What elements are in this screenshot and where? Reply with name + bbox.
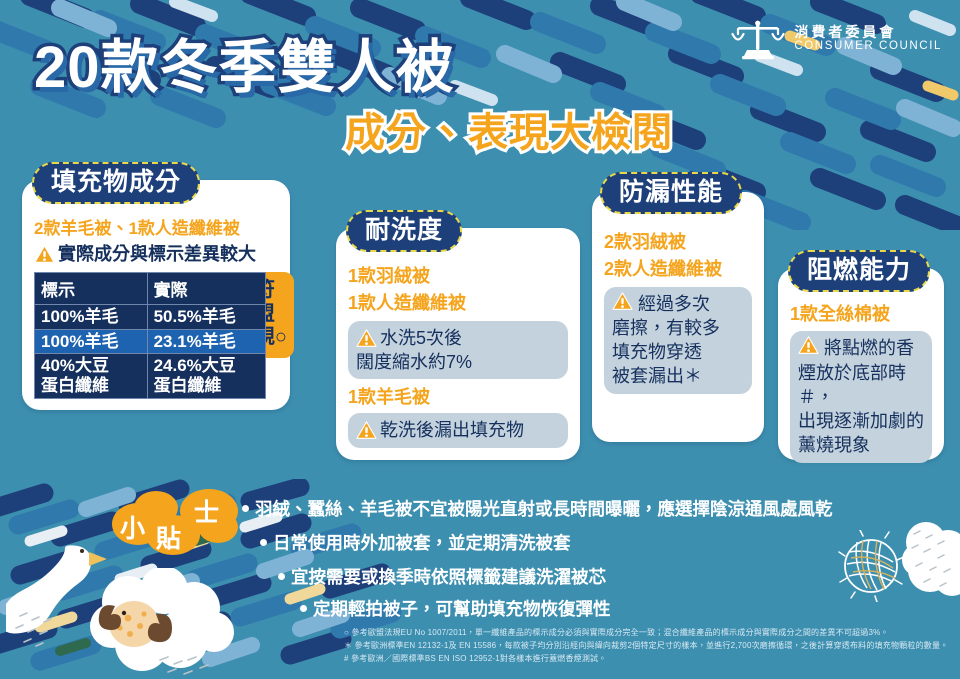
card-wash-durability: 1款羽絨被 1款人造纖維被 水洗5次後 闊度縮水約7% 1款羊毛被 乾洗後漏出填… — [336, 228, 580, 460]
footnote-1: ○ 參考歐盟法規EU No 1007/2011，單一纖維產品的標示成分必須與實際… — [344, 627, 889, 639]
cell-declared: 40%大豆 蛋白纖維 — [35, 354, 148, 398]
card-heading-flame-retardance: 阻燃能力 — [788, 250, 930, 292]
wash-note-shrinkage: 水洗5次後 闊度縮水約7% — [348, 321, 568, 380]
tip-item-4: 定期輕拍被子，可幫助填充物恢復彈性 — [300, 596, 611, 621]
tip-item-1-text: 羽絨、蠶絲、羊毛被不宜被陽光直射或長時間曝曬，應選擇陰涼通風處風乾 — [255, 499, 833, 519]
table-row: 100%羊毛 23.1%羊毛 — [35, 329, 266, 354]
silk-cocoon-illustration — [835, 530, 907, 602]
page-subtitle: 成分、表現大檢閱 — [345, 100, 673, 158]
fill-composition-warning-text: 實際成分與標示差異較大 — [58, 244, 256, 264]
tip-item-3: 宜按需要或換季時依照標籤建議洗濯被芯 — [278, 564, 606, 589]
cell-actual: 50.5%羊毛 — [147, 305, 265, 330]
cell-actual: 24.6%大豆 蛋白纖維 — [147, 354, 265, 398]
card-heading-wash-durability: 耐洗度 — [346, 210, 462, 252]
cell-declared: 100%羊毛 — [35, 305, 148, 330]
flame-note-text: 將點燃的香 煙放於底部時＃， 出現逐漸加劇的 薰燒現象 — [798, 338, 924, 455]
tip-item-2-text: 日常使用時外加被套，並定期清洗被套 — [273, 533, 571, 553]
infographic-canvas: 20款冬季雙人被 成分、表現大檢閱 消費者委員會 CONSUMER COUNCI… — [0, 0, 960, 679]
sheep-illustration — [68, 568, 238, 679]
tip-item-2: 日常使用時外加被套，並定期清洗被套 — [260, 530, 571, 555]
tips-badge-char-3: 士 — [194, 493, 219, 529]
table-row: 100%羊毛 50.5%羊毛 — [35, 305, 266, 330]
warning-icon — [356, 421, 377, 440]
warning-icon — [798, 336, 819, 355]
table-header-declared: 標示 — [35, 273, 148, 305]
leak-item-down-quilt: 2款羽絨被 — [604, 230, 752, 254]
warning-icon — [612, 292, 633, 311]
table-row: 40%大豆 蛋白纖維 24.6%大豆 蛋白纖維 — [35, 354, 266, 398]
bullet-icon — [260, 539, 267, 546]
consumer-council-logo: 消費者委員會 CONSUMER COUNCIL — [730, 18, 942, 60]
warning-icon — [34, 245, 55, 264]
tip-item-4-text: 定期輕拍被子，可幫助填充物恢復彈性 — [313, 599, 611, 619]
tips-badge-char-2: 貼 — [156, 519, 181, 555]
tips-badge-char-1: 小 — [120, 509, 145, 545]
cell-declared: 100%羊毛 — [35, 329, 148, 354]
wash-item-down-quilt: 1款羽絨被 — [348, 264, 568, 288]
cell-actual: 23.1%羊毛 — [147, 329, 265, 354]
fill-composition-warning-row: 實際成分與標示差異較大 — [34, 243, 278, 266]
footnote-2: ＊ 參考歐洲標準EN 12132-1及 EN 15586，每款被子均分別沿經向與… — [344, 640, 948, 652]
warning-icon — [356, 329, 377, 348]
leak-note: 經過多次 磨擦，有較多 填充物穿透 被套漏出＊ — [604, 287, 752, 394]
logo-label-en: CONSUMER COUNCIL — [794, 40, 942, 54]
fill-composition-table: 標示 實際 100%羊毛 50.5%羊毛 100%羊毛 23.1%羊毛 40%大… — [34, 272, 266, 398]
wash-item-synthetic-quilt: 1款人造纖維被 — [348, 291, 568, 315]
wash-item-wool-quilt: 1款羊毛被 — [348, 385, 568, 409]
wash-note-dryclean: 乾洗後漏出填充物 — [348, 413, 568, 447]
flame-item-silk-quilt: 1款全絲棉被 — [790, 302, 932, 326]
page-title: 20款冬季雙人被 — [34, 20, 455, 104]
footnote-3: # 參考歐洲／國際標準BS EN ISO 12952-1對各樣本進行蓋燃香煙測試… — [344, 653, 606, 665]
bullet-icon — [300, 605, 307, 612]
bullet-icon — [242, 505, 249, 512]
wash-note-dryclean-text: 乾洗後漏出填充物 — [380, 420, 524, 440]
card-leak-resistance: 2款羽絨被 2款人造纖維被 經過多次 磨擦，有較多 填充物穿透 被套漏出＊ — [592, 192, 764, 442]
flame-note: 將點燃的香 煙放於底部時＃， 出現逐漸加劇的 薰燒現象 — [790, 331, 932, 462]
leak-item-synthetic-quilt: 2款人造纖維被 — [604, 257, 752, 281]
table-body: 100%羊毛 50.5%羊毛 100%羊毛 23.1%羊毛 40%大豆 蛋白纖維… — [35, 305, 266, 398]
balance-scale-icon — [730, 18, 786, 60]
card-heading-fill-composition: 填充物成分 — [32, 162, 200, 204]
cotton-ball-illustration — [900, 520, 960, 600]
table-header-actual: 實際 — [147, 273, 265, 305]
card-fill-composition: 2款羊毛被、1款人造纖維被 實際成分與標示差異較大 標示 實際 — [22, 180, 290, 410]
table-header-row: 標示 實際 — [35, 273, 266, 305]
tips-badge: 小 貼 士 — [112, 489, 248, 555]
fill-composition-orange-line: 2款羊毛被、1款人造纖維被 — [34, 218, 278, 241]
tip-item-3-text: 宜按需要或換季時依照標籤建議洗濯被芯 — [291, 567, 606, 587]
logo-label-cn: 消費者委員會 — [794, 24, 942, 40]
tip-item-1: 羽絨、蠶絲、羊毛被不宜被陽光直射或長時間曝曬，應選擇陰涼通風處風乾 — [242, 496, 833, 521]
card-heading-leak-resistance: 防漏性能 — [600, 172, 742, 214]
card-flame-retardance: 1款全絲棉被 將點燃的香 煙放於底部時＃， 出現逐漸加劇的 薰燒現象 — [778, 268, 944, 460]
bullet-icon — [278, 573, 285, 580]
